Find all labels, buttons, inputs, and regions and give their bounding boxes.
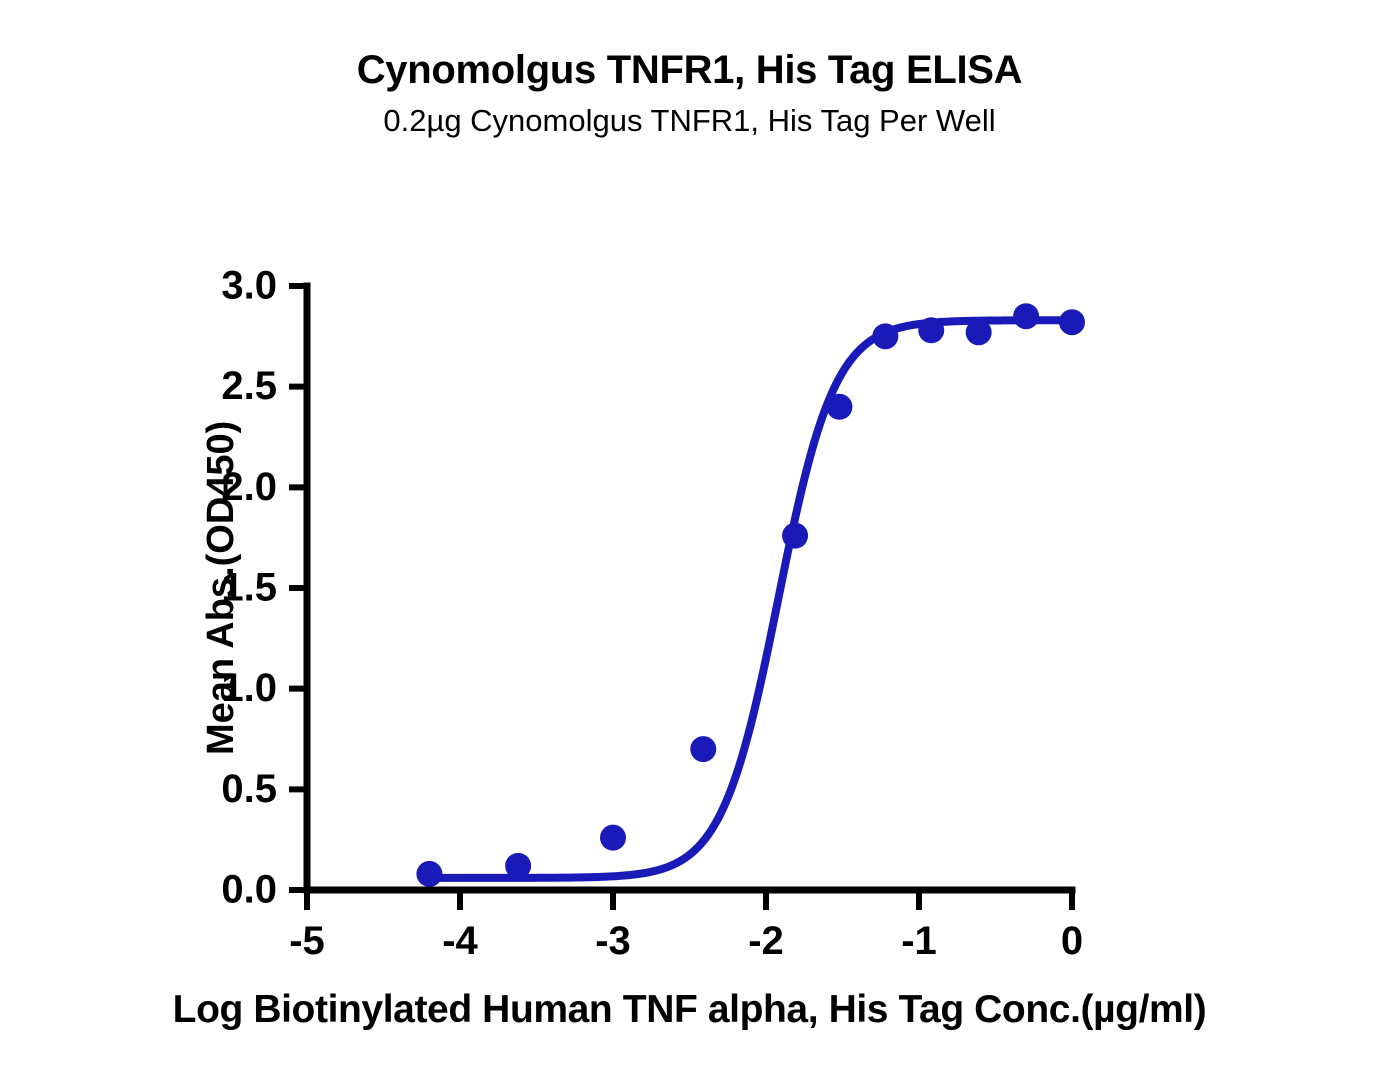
data-point-marker: [966, 319, 992, 345]
fit-curve: [422, 320, 1072, 878]
x-axis-ticks: -5-4-3-2-10: [289, 890, 1083, 963]
data-point-marker: [782, 523, 808, 549]
data-point-marker: [690, 736, 716, 762]
data-point-marker: [416, 861, 442, 887]
y-tick-label: 2.5: [221, 364, 277, 408]
data-point-marker: [872, 323, 898, 349]
y-axis-label: Mean Abs.(OD450): [200, 421, 243, 755]
y-tick-label: 0.0: [221, 868, 277, 912]
data-points: [416, 303, 1085, 887]
x-tick-label: -4: [442, 919, 478, 963]
x-tick-label: -3: [595, 919, 631, 963]
data-point-marker: [1059, 309, 1085, 335]
data-point-marker: [826, 394, 852, 420]
data-point-marker: [918, 317, 944, 343]
x-tick-label: 0: [1061, 919, 1083, 963]
x-axis-label: Log Biotinylated Human TNF alpha, His Ta…: [0, 988, 1379, 1032]
y-tick-label: 0.5: [221, 767, 277, 811]
x-tick-label: -1: [901, 919, 937, 963]
x-tick-label: -5: [289, 919, 325, 963]
data-point-marker: [1013, 303, 1039, 329]
y-tick-label: 3.0: [221, 264, 277, 308]
data-point-marker: [505, 853, 531, 879]
data-point-marker: [600, 825, 626, 851]
x-tick-label: -2: [748, 919, 784, 963]
elisa-chart-figure: Cynomolgus TNFR1, His Tag ELISA 0.2µg Cy…: [0, 0, 1379, 1086]
